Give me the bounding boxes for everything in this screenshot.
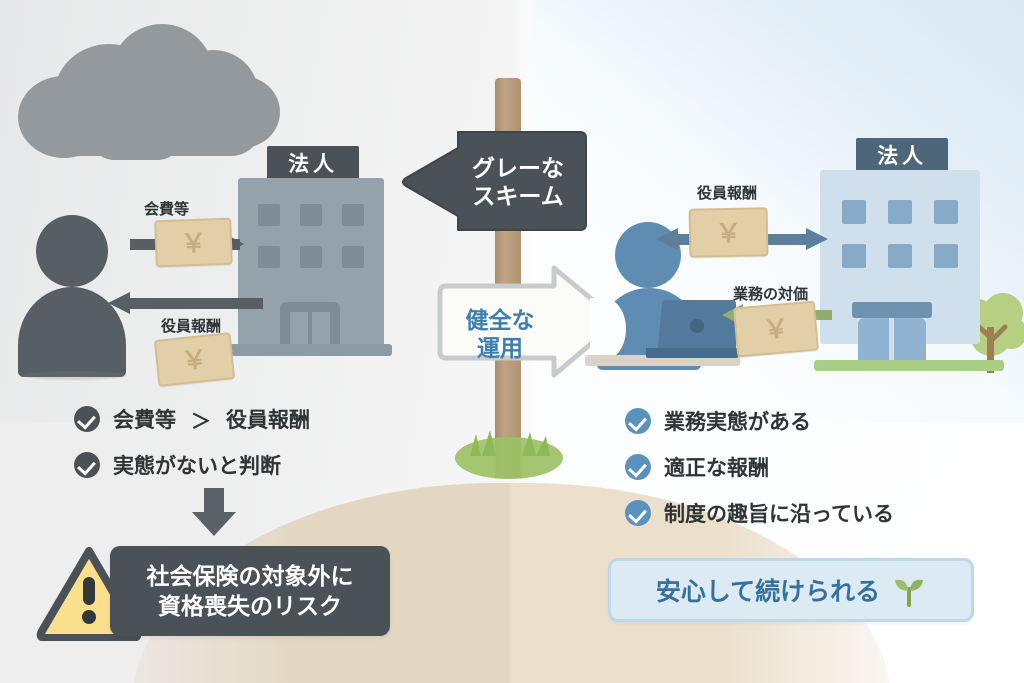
right-building-base [814,360,1004,371]
right-flow-2-label: 業務の対価 [733,283,808,304]
right-check-2-text: 適正な報酬 [664,452,769,482]
arrow-down-icon [192,488,236,536]
left-building-window [342,204,364,226]
left-check-2-text: 実態がないと判断 [113,450,281,480]
check-circle-icon [625,454,651,480]
right-building-window [888,244,912,268]
signpost-right-line-1: 健全な [466,306,535,334]
right-building-window [934,200,958,224]
safe-box-label: 安心して続けられる [656,572,880,608]
right-check-row-2: 適正な報酬 [625,452,769,482]
left-building-window [258,204,280,226]
right-check-row-3: 制度の趣旨に沿っている [625,498,894,528]
check-circle-icon [74,452,100,478]
risk-box-line-1: 社会保険の対象外に [147,561,354,591]
signpost-left-line-2: スキーム [472,182,563,210]
path-fade-right [724,423,1024,683]
right-building-sign-label: 法人 [877,140,927,170]
left-building-base [230,344,392,356]
right-flow-1-label: 役員報酬 [697,182,757,203]
right-building: 法人 [820,138,984,376]
signpost-left-arrow-text: グレーな スキーム [454,144,582,220]
left-check-1-right: 役員報酬 [226,404,310,434]
check-circle-icon [74,406,100,432]
right-check-3-text: 制度の趣旨に沿っている [664,498,894,528]
check-circle-icon [625,408,651,434]
left-check-1-left: 会費等 [113,404,176,434]
left-flow-2-label: 役員報酬 [161,315,221,336]
left-building-sign: 法人 [267,146,359,180]
right-building-window [888,200,912,224]
risk-box: 社会保険の対象外に 資格喪失のリスク [110,546,390,636]
signpost-right-line-2: 運用 [477,334,523,362]
right-building-sign: 法人 [856,138,948,172]
left-building-window [300,204,322,226]
left-flow-2-arrowhead [108,292,130,314]
right-flow-1-yen-symbol: ￥ [715,219,741,245]
right-flow-1-arrowhead-right [806,228,828,250]
left-check-row-2: 実態がないと判断 [74,450,281,480]
right-building-window [934,244,958,268]
right-check-1-text: 業務実態がある [664,406,811,436]
right-building-canopy [852,302,932,318]
left-flow-1-yen-symbol: ￥ [180,229,207,256]
left-building-window [258,246,280,268]
left-building: 法人 [238,146,388,376]
left-flow-1-label: 会費等 [144,198,189,219]
right-check-row-1: 業務実態がある [625,406,811,436]
sprout-icon [892,573,926,607]
signpost-left-arrow: グレーな スキーム [398,128,588,234]
infographic-canvas: 法人 会費等 ￥ 役員報酬 ￥ 会費等 ＞ 役員報酬 実態がな [0,0,1024,683]
risk-box-line-2: 資格喪失のリスク [158,591,342,621]
left-building-window [342,246,364,268]
safe-box: 安心して続けられる [608,558,974,622]
right-building-window [842,200,866,224]
left-flow-2-yen-symbol: ￥ [180,345,209,374]
left-flow-2-arrow [128,298,263,309]
left-check-1-operator: ＞ [191,405,211,434]
left-person-shadow [22,371,126,380]
signpost-grass-blades [460,422,560,456]
left-flow-2-money-note: ￥ [154,332,235,387]
right-building-window [842,244,866,268]
left-person-head [36,215,108,287]
signpost-right-arrow-text: 健全な 運用 [444,294,556,374]
storm-cloud-icon [18,20,280,160]
left-check-row-1: 会費等 ＞ 役員報酬 [74,404,310,434]
check-circle-icon [625,500,651,526]
right-flow-2-yen-symbol: ￥ [762,315,790,343]
right-flow-1-arrowhead-left [656,228,678,250]
left-flow-1-money-note: ￥ [154,218,233,268]
right-building-door-mullion [889,318,894,364]
left-building-window [300,246,322,268]
right-flow-1-money-note: ￥ [689,207,769,257]
left-building-sign-label: 法人 [288,148,338,178]
right-flow-2-money-note: ￥ [733,301,819,358]
signpost-left-line-1: グレーな [472,154,564,182]
